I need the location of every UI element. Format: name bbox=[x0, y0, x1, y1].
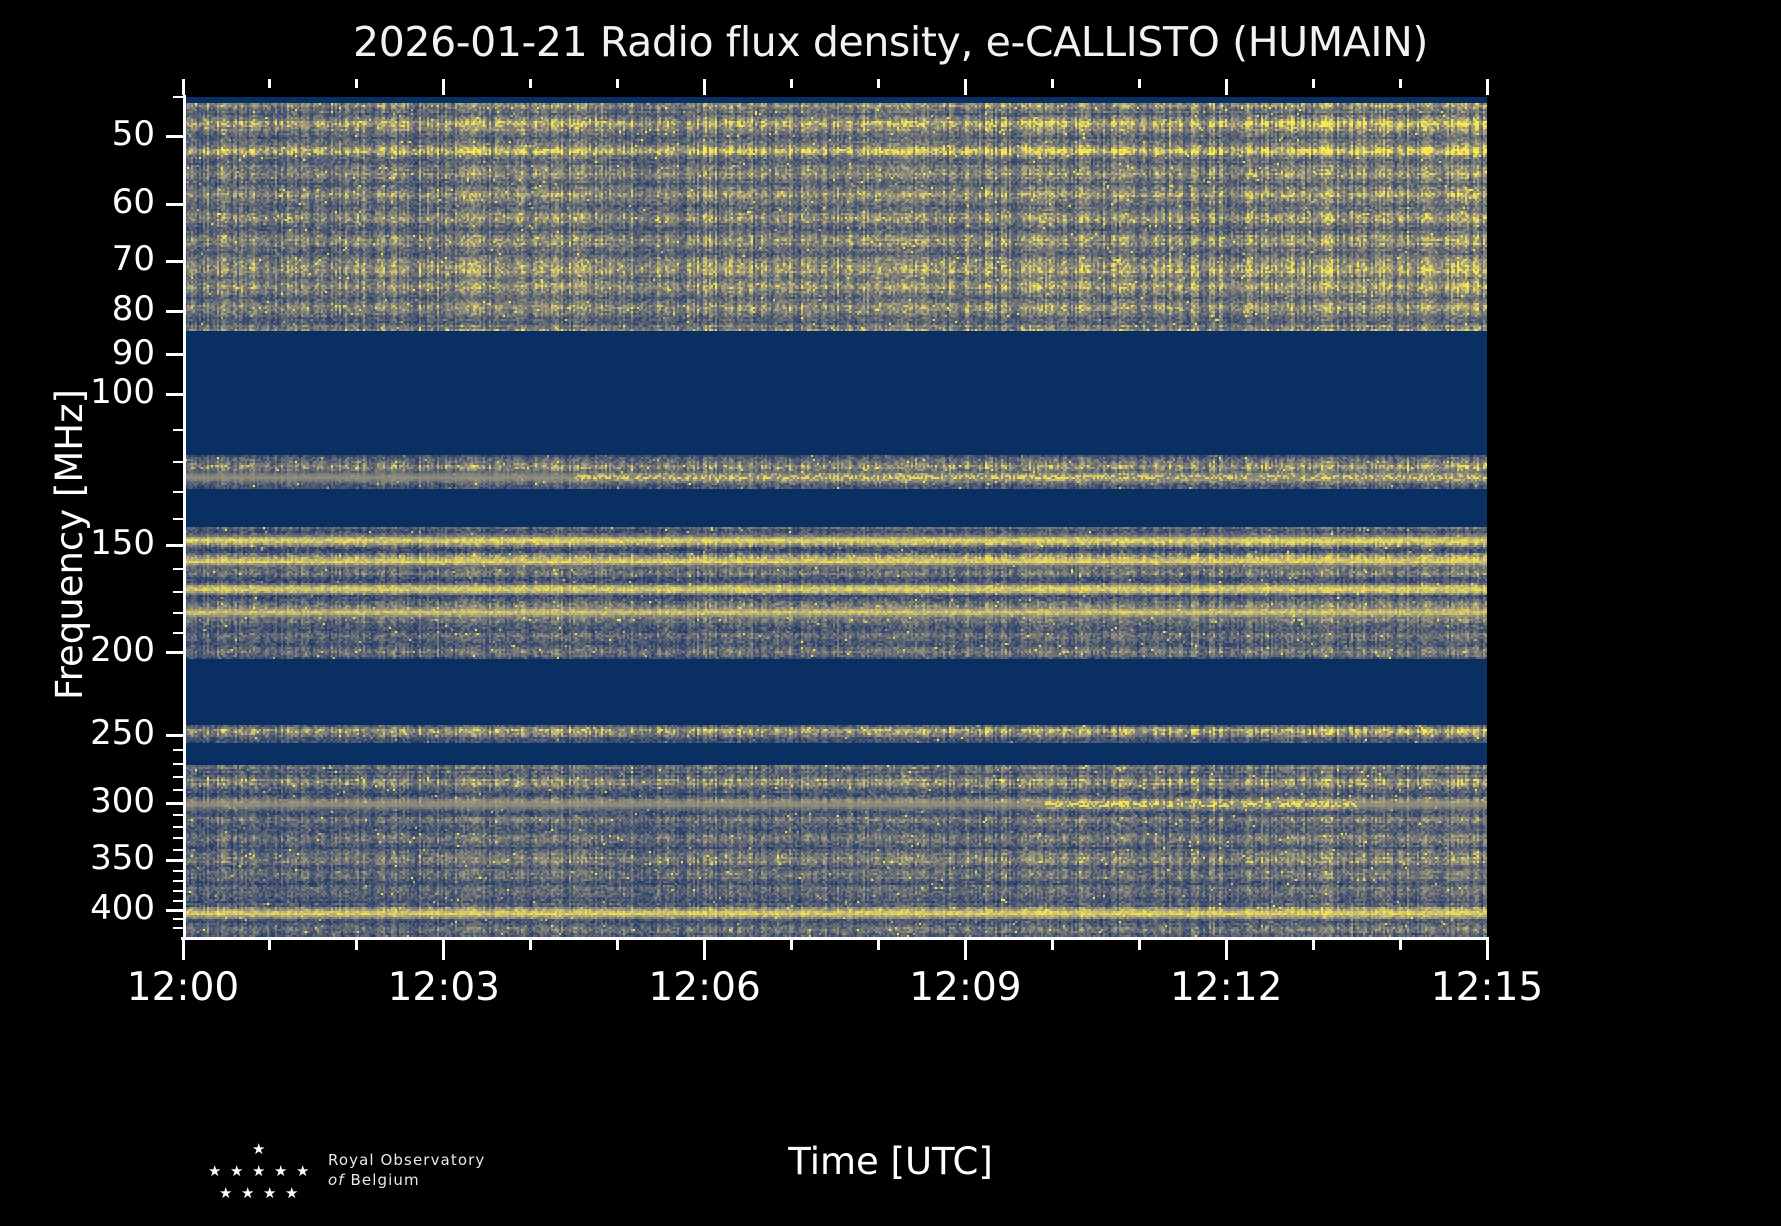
x-tick-label-1: 12:03 bbox=[334, 965, 554, 1010]
x-tick-top bbox=[1312, 79, 1315, 88]
star-icon: ★ bbox=[252, 1142, 265, 1157]
x-tick-label-2: 12:06 bbox=[595, 965, 815, 1010]
logo-belgium: Belgium bbox=[351, 1171, 420, 1189]
star-icon: ★ bbox=[208, 1164, 221, 1179]
y-tick-label-80: 80 bbox=[5, 289, 155, 329]
y-tick-label-90: 90 bbox=[5, 333, 155, 373]
royal-observatory-logo: ★★★★★★★★★★ Royal Observatory of Belgium bbox=[200, 1142, 620, 1212]
y-tick-label-250: 250 bbox=[5, 713, 155, 753]
y-tick-150 bbox=[166, 544, 183, 547]
logo-line-1: Royal Observatory bbox=[328, 1150, 485, 1170]
y-tick-minor bbox=[173, 776, 183, 778]
x-tick-top bbox=[442, 79, 445, 95]
x-tick-top bbox=[877, 79, 880, 88]
y-tick-label-70: 70 bbox=[5, 239, 155, 279]
y-tick-50 bbox=[166, 135, 183, 138]
star-icon: ★ bbox=[252, 1164, 265, 1179]
y-tick-minor bbox=[173, 837, 183, 839]
star-icon: ★ bbox=[274, 1164, 287, 1179]
x-tick-top bbox=[790, 79, 793, 88]
y-tick-minor bbox=[173, 814, 183, 816]
x-tick-major bbox=[442, 938, 445, 960]
y-tick-minor bbox=[173, 429, 183, 431]
y-tick-minor bbox=[173, 568, 183, 570]
x-tick-minor bbox=[355, 938, 358, 950]
y-tick-minor bbox=[173, 826, 183, 828]
x-tick-top bbox=[616, 79, 619, 88]
y-tick-minor bbox=[173, 461, 183, 463]
y-tick-300 bbox=[166, 802, 183, 805]
y-tick-80 bbox=[166, 310, 183, 313]
x-tick-minor bbox=[1051, 938, 1054, 950]
x-tick-minor bbox=[1312, 938, 1315, 950]
plot-area bbox=[183, 97, 1487, 937]
y-tick-100 bbox=[166, 393, 183, 396]
y-tick-minor bbox=[173, 918, 183, 920]
star-icon: ★ bbox=[230, 1164, 243, 1179]
y-axis-label: Frequency [MHz] bbox=[48, 389, 91, 700]
y-tick-400 bbox=[166, 909, 183, 912]
x-tick-label-4: 12:12 bbox=[1116, 965, 1336, 1010]
y-tick-minor bbox=[173, 890, 183, 892]
y-tick-200 bbox=[166, 651, 183, 654]
x-tick-minor bbox=[1138, 938, 1141, 950]
y-tick-label-60: 60 bbox=[5, 182, 155, 222]
x-tick-top bbox=[182, 79, 185, 95]
x-tick-minor bbox=[790, 938, 793, 950]
stars-icon: ★★★★★★★★★★ bbox=[200, 1142, 320, 1204]
y-tick-90 bbox=[166, 353, 183, 356]
y-axis-line bbox=[183, 95, 186, 940]
x-tick-top bbox=[964, 79, 967, 95]
y-tick-label-400: 400 bbox=[5, 888, 155, 928]
y-tick-minor bbox=[173, 880, 183, 882]
x-tick-minor bbox=[616, 938, 619, 950]
y-tick-minor bbox=[173, 849, 183, 851]
x-tick-major bbox=[703, 938, 706, 960]
x-tick-label-5: 12:15 bbox=[1377, 965, 1597, 1010]
star-icon: ★ bbox=[285, 1186, 298, 1201]
y-tick-350 bbox=[166, 859, 183, 862]
x-tick-label-3: 12:09 bbox=[855, 965, 1075, 1010]
star-icon: ★ bbox=[296, 1164, 309, 1179]
y-tick-minor bbox=[173, 789, 183, 791]
y-tick-250 bbox=[166, 734, 183, 737]
page-title: 2026-01-21 Radio flux density, e-CALLIST… bbox=[0, 18, 1781, 66]
x-tick-major bbox=[182, 938, 185, 960]
y-tick-minor bbox=[173, 632, 183, 634]
x-tick-top bbox=[1486, 79, 1489, 95]
y-tick-minor bbox=[173, 900, 183, 902]
x-tick-top bbox=[1051, 79, 1054, 88]
y-tick-label-50: 50 bbox=[5, 114, 155, 154]
y-tick-minor bbox=[173, 612, 183, 614]
star-icon: ★ bbox=[241, 1186, 254, 1201]
x-tick-minor bbox=[268, 938, 271, 950]
x-tick-top bbox=[1225, 79, 1228, 95]
y-tick-minor bbox=[173, 591, 183, 593]
y-tick-minor bbox=[173, 96, 183, 98]
x-tick-label-0: 12:00 bbox=[73, 965, 293, 1010]
x-axis-line bbox=[181, 937, 1489, 940]
y-tick-minor bbox=[173, 491, 183, 493]
star-icon: ★ bbox=[219, 1186, 232, 1201]
y-tick-minor bbox=[173, 763, 183, 765]
spectrogram-figure: 2026-01-21 Radio flux density, e-CALLIST… bbox=[0, 0, 1781, 1226]
y-tick-minor bbox=[173, 518, 183, 520]
y-tick-minor bbox=[173, 749, 183, 751]
y-tick-minor bbox=[173, 927, 183, 929]
spectrogram-image bbox=[183, 97, 1487, 937]
x-tick-top bbox=[529, 79, 532, 88]
x-tick-top bbox=[268, 79, 271, 88]
x-tick-major bbox=[1486, 938, 1489, 960]
y-tick-minor bbox=[173, 870, 183, 872]
star-icon: ★ bbox=[263, 1186, 276, 1201]
y-tick-label-350: 350 bbox=[5, 838, 155, 878]
x-tick-minor bbox=[877, 938, 880, 950]
y-tick-60 bbox=[166, 203, 183, 206]
x-tick-top bbox=[1138, 79, 1141, 88]
logo-line-2: of Belgium bbox=[328, 1170, 485, 1190]
x-tick-top bbox=[1399, 79, 1402, 88]
logo-text: Royal Observatory of Belgium bbox=[328, 1150, 485, 1190]
x-tick-top bbox=[355, 79, 358, 88]
x-tick-minor bbox=[1399, 938, 1402, 950]
x-tick-minor bbox=[529, 938, 532, 950]
x-tick-major bbox=[1225, 938, 1228, 960]
y-tick-label-300: 300 bbox=[5, 781, 155, 821]
x-tick-major bbox=[964, 938, 967, 960]
logo-of: of bbox=[328, 1171, 345, 1189]
y-tick-70 bbox=[166, 260, 183, 263]
x-tick-top bbox=[703, 79, 706, 95]
